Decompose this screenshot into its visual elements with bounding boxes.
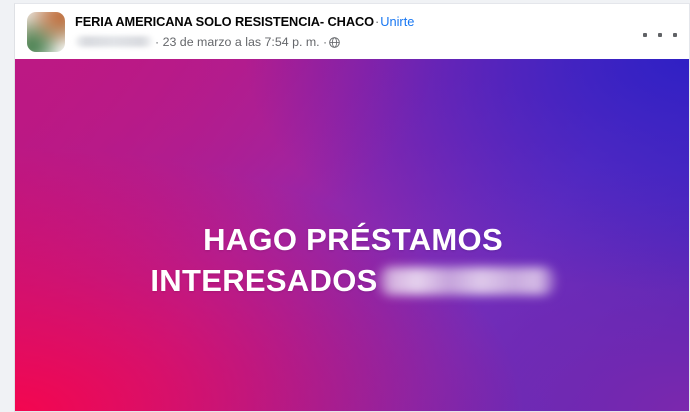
- avatar[interactable]: [27, 12, 65, 52]
- menu-dot-1: [643, 33, 647, 37]
- post-timestamp[interactable]: ·: [155, 35, 163, 49]
- menu-dot-2: [658, 33, 662, 37]
- group-name-link[interactable]: FERIA AMERICANA SOLO RESISTENCIA- CHACO: [75, 14, 374, 29]
- byline-separator-2: ·: [320, 35, 328, 49]
- post-timestamp-text[interactable]: 23 de marzo a las 7:54 p. m.: [163, 35, 320, 49]
- join-group-button[interactable]: Unirte: [380, 14, 414, 29]
- image-headline-line-2: INTERESADOS: [150, 263, 377, 298]
- image-headline-line-1: HAGO PRÉSTAMOS: [15, 219, 690, 260]
- author-name-redacted: [75, 36, 153, 47]
- post-card: FERIA AMERICANA SOLO RESISTENCIA- CHACO·…: [14, 3, 690, 412]
- contact-redacted: [378, 267, 556, 295]
- post-byline-primary: FERIA AMERICANA SOLO RESISTENCIA- CHACO·…: [75, 13, 635, 30]
- post-header-text: FERIA AMERICANA SOLO RESISTENCIA- CHACO·…: [75, 13, 635, 51]
- post-image[interactable]: HAGO PRÉSTAMOS INTERESADOS: [15, 59, 690, 412]
- image-headline: HAGO PRÉSTAMOS INTERESADOS: [15, 219, 690, 301]
- image-headline-line-2-row: INTERESADOS: [150, 260, 555, 301]
- facebook-post-screenshot: FERIA AMERICANA SOLO RESISTENCIA- CHACO·…: [0, 0, 690, 412]
- menu-dot-3: [673, 33, 677, 37]
- post-header: FERIA AMERICANA SOLO RESISTENCIA- CHACO·…: [15, 4, 690, 59]
- globe-icon[interactable]: [329, 36, 340, 53]
- post-byline-secondary: · 23 de marzo a las 7:54 p. m. ·: [75, 34, 635, 51]
- more-options-icon[interactable]: [643, 26, 677, 44]
- avatar-image-blurred: [27, 12, 65, 52]
